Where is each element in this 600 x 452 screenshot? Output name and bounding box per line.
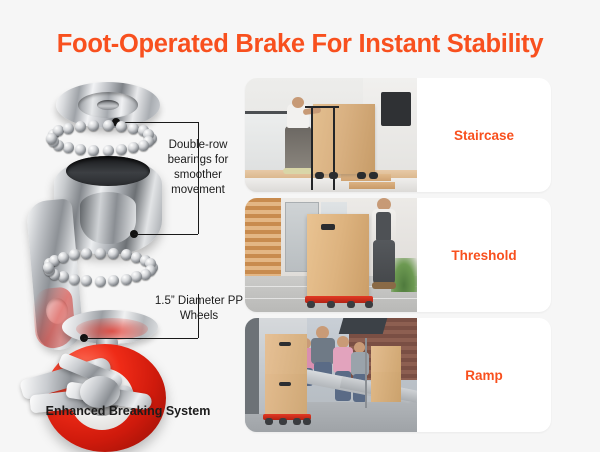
caster-exploded-view: Double-row bearings for smoother movemen… (8, 72, 240, 402)
scenario-photo-staircase (245, 78, 417, 192)
callout-leader-bearings-top (116, 122, 198, 123)
scenario-card-staircase[interactable]: Staircase (245, 78, 551, 192)
callout-label-bearings: Double-row bearings for smoother movemen… (156, 138, 240, 198)
scenario-photo-ramp (245, 318, 417, 432)
scenario-card-threshold[interactable]: Threshold (245, 198, 551, 312)
swivel-housing-mouth-icon (66, 156, 150, 186)
scenario-label-staircase: Staircase (417, 78, 551, 192)
scenario-label-threshold: Threshold (417, 198, 551, 312)
caster-diagram-panel: Double-row bearings for smoother movemen… (8, 72, 240, 432)
scenario-photo-threshold (245, 198, 417, 312)
scenario-card-ramp[interactable]: Ramp (245, 318, 551, 432)
scenario-card-list: Staircase (245, 78, 551, 438)
page-title: Foot-Operated Brake For Instant Stabilit… (0, 30, 600, 59)
callout-leader-bearings-bottom (134, 234, 198, 235)
swivel-housing-bore-icon (80, 192, 136, 244)
diagram-caption: Enhanced Breaking System (8, 404, 248, 418)
infographic-root: Foot-Operated Brake For Instant Stabilit… (0, 0, 600, 450)
callout-leader-wheels (84, 338, 198, 339)
ball-bearing-ring-upper-icon (51, 124, 161, 158)
scenario-label-ramp: Ramp (417, 318, 551, 432)
swivel-top-plate-hole-icon (97, 100, 119, 110)
callout-label-wheels: 1.5” Diameter PP Wheels (154, 294, 244, 324)
